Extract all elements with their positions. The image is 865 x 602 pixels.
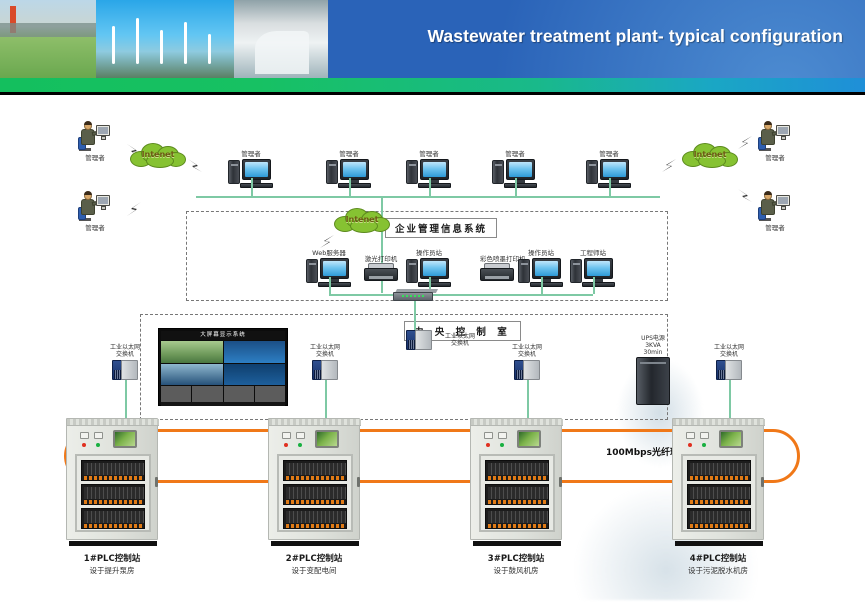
mis-computer-label: 管理者 (586, 148, 632, 158)
laser-printer: 激光打印机 (364, 253, 398, 283)
person-at-computer-icon (758, 191, 792, 221)
remote-user-left-2: 管理者 (78, 191, 112, 232)
switch-to-plc-line (527, 380, 529, 418)
web-server-label: Web服务器 (306, 247, 352, 257)
mis-drop-line (251, 178, 253, 197)
internet-cloud-label: Intenet (682, 150, 738, 159)
internet-cloud-label: Intenet (334, 215, 390, 224)
ethernet-switch-icon (406, 330, 432, 350)
person-at-computer-icon (758, 121, 792, 151)
mis-computer-label: 管理者 (406, 148, 452, 158)
plc-station-location: 设于提升泵房 (66, 565, 158, 576)
device-link (429, 294, 593, 296)
mis-drop-line (349, 178, 351, 197)
plc-station-location: 设于污泥脱水机房 (672, 565, 764, 576)
remote-user-label: 管理者 (758, 222, 792, 232)
remote-user-right-1: 管理者 (758, 121, 792, 162)
ups-label: UPS电源 3KVA 30min (624, 335, 682, 356)
person-at-computer-icon (78, 191, 112, 221)
mis-zone-title: 企业管理信息系统 (385, 218, 497, 238)
ethernet-switch-icon (514, 360, 540, 380)
remote-user-label: 管理者 (78, 152, 112, 162)
plc-cabinet-icon (470, 418, 562, 540)
remote-user-label: 管理者 (758, 152, 792, 162)
mis-drop-line (429, 178, 431, 197)
device-drop-line (329, 277, 331, 294)
engineer-station-label: 操作员站 (518, 247, 564, 257)
plc-station-name: 3#PLC控制站 (470, 552, 562, 564)
bigscreen-base (161, 402, 285, 406)
device-drop-line (541, 277, 543, 294)
internet-cloud-label: Intenet (130, 150, 186, 159)
plc-cabinet-icon (672, 418, 764, 540)
power-plant-photo (0, 0, 96, 78)
switch-to-plc-line (325, 380, 327, 418)
header-green-bar (0, 78, 865, 92)
large-screen-display-system: 大屏幕显示系统 (158, 328, 288, 406)
plc-station-2: 2#PLC控制站 设于变配电间 (268, 418, 360, 576)
switch-label: 工业以太网 交换机 (499, 344, 555, 358)
ethernet-switch-icon (112, 360, 138, 380)
printer-icon (480, 263, 514, 283)
hydro-dam-and-steel-mill-photo (234, 0, 328, 78)
plc-station-name: 4#PLC控制站 (672, 552, 764, 564)
remote-user-right-2: 管理者 (758, 191, 792, 232)
internet-cloud-right: Intenet (682, 142, 738, 169)
mis-computer-label: 管理者 (228, 148, 274, 158)
mis-drop-line (609, 178, 611, 197)
device-link (329, 294, 396, 296)
operator-station-label: 操作员站 (406, 247, 452, 257)
header-photo-strip (0, 0, 328, 78)
plc-station-location: 设于变配电间 (268, 565, 360, 576)
plc-station-3: 3#PLC控制站 设于鼓风机房 (470, 418, 562, 576)
mis-computer-label: 管理者 (492, 148, 538, 158)
switch-top-center: 工业以太网 交换机 (406, 330, 432, 350)
ethernet-switch-icon (312, 360, 338, 380)
switch-to-plc-line (125, 380, 127, 418)
plc-station-location: 设于鼓风机房 (470, 565, 562, 576)
switch-label: 工业以太网 交换机 (97, 344, 153, 358)
internet-cloud-left: Intenet (130, 142, 186, 169)
switch-label: 工业以太网 交换机 (297, 344, 353, 358)
mis-computer-label: 管理者 (326, 148, 372, 158)
bigscreen-cell (224, 364, 286, 386)
plc-station-name: 2#PLC控制站 (268, 552, 360, 564)
remote-user-label: 管理者 (78, 222, 112, 232)
device-drop-line (593, 277, 595, 294)
bigscreen-cell (161, 364, 223, 386)
bigscreen-cell (224, 341, 286, 363)
ups-unit: UPS电源 3KVA 30min (636, 357, 670, 405)
color-inkjet-printer: 彩色喷墨打印机 (480, 253, 514, 283)
bigscreen-cell (161, 341, 223, 363)
switch-plc2: 工业以太网 交换机 (312, 360, 338, 380)
mis-drop-line (515, 178, 517, 197)
color-inkjet-printer-label: 彩色喷墨打印机 (480, 253, 514, 263)
ups-cabinet-icon (636, 357, 670, 405)
engineer-station-label: 工程师站 (570, 247, 616, 257)
slide-header: Wastewater treatment plant- typical conf… (0, 0, 865, 78)
plc-station-1: 1#PLC控制站 设于提升泵房 (66, 418, 158, 576)
bigscreen-title: 大屏幕显示系统 (161, 331, 285, 340)
bigscreen-lower-panels (161, 386, 285, 402)
laser-printer-label: 激光打印机 (364, 253, 398, 263)
bigscreen-video-grid (161, 341, 285, 385)
switch-plc3: 工业以太网 交换机 (514, 360, 540, 380)
switch-to-plc-line (729, 380, 731, 418)
plc-cabinet-icon (268, 418, 360, 540)
switch-plc4: 工业以太网 交换机 (716, 360, 742, 380)
internet-cloud-control-room: Intenet (334, 207, 390, 234)
switch-plc1: 工业以太网 交换机 (112, 360, 138, 380)
switch-label: 工业以太网 交换机 (701, 344, 757, 358)
wind-farm-photo (96, 0, 234, 78)
plc-cabinet-icon (66, 418, 158, 540)
plc-station-4: 4#PLC控制站 设于污泥脱水机房 (672, 418, 764, 576)
switch-label: 工业以太网 交换机 (432, 333, 488, 347)
mis-bus-line (196, 196, 660, 198)
remote-user-left-1: 管理者 (78, 121, 112, 162)
plc-station-name: 1#PLC控制站 (66, 552, 158, 564)
ethernet-switch-icon (716, 360, 742, 380)
slide-canvas: Wastewater treatment plant- typical conf… (0, 0, 865, 602)
diagram-area: 企业管理信息系统 中 央 控 制 室 管理者 管理者 (0, 95, 865, 602)
page-title: Wastewater treatment plant- typical conf… (427, 26, 843, 47)
printer-icon (364, 263, 398, 283)
person-at-computer-icon (78, 121, 112, 151)
